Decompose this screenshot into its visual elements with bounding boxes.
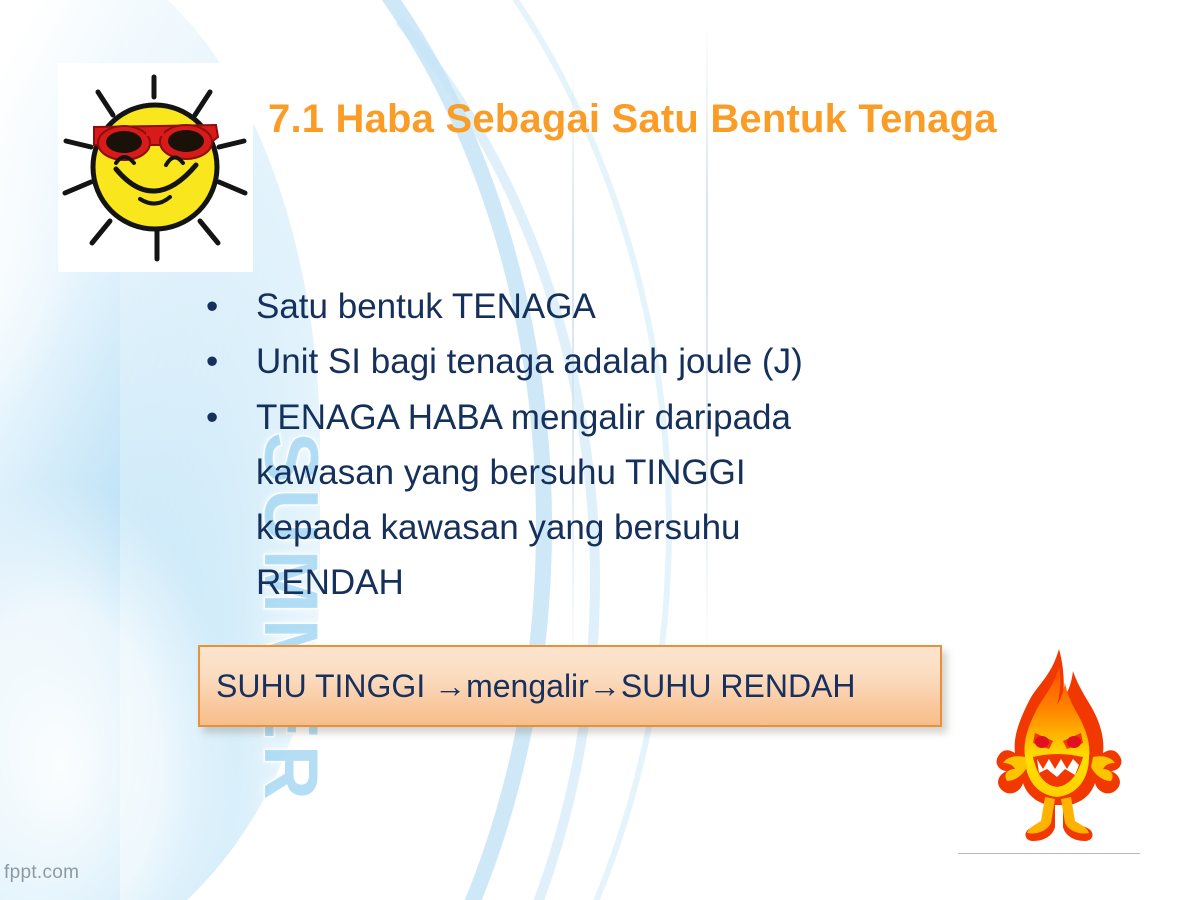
list-item-label: Unit SI bagi tenaga adalah joule (J): [238, 334, 966, 389]
list-item-label: TENAGA HABA mengalir daripada: [238, 390, 966, 445]
angry-flame-character-icon: [985, 645, 1130, 845]
callout-part-low-temp: SUHU RENDAH: [621, 668, 856, 704]
arrow-right-icon: →: [434, 668, 466, 704]
bullet-marker-icon: •: [206, 334, 238, 389]
list-item-continuation: kepada kawasan yang bersuhu: [206, 500, 966, 555]
sun-with-sunglasses-icon: [58, 63, 253, 272]
callout-part-high-temp: SUHU TINGGI: [216, 668, 434, 704]
list-item: • Satu bentuk TENAGA: [206, 279, 966, 334]
arrow-right-icon: →: [589, 668, 621, 704]
heat-flow-callout-box: SUHU TINGGI →mengalir→SUHU RENDAH: [198, 645, 942, 727]
body-content: • Satu bentuk TENAGA • Unit SI bagi tena…: [206, 279, 966, 611]
list-item: • TENAGA HABA mengalir daripada: [206, 390, 966, 445]
bullet-marker-icon: •: [206, 390, 238, 445]
bullet-marker-icon: •: [206, 279, 238, 334]
presentation-slide: SUMMER: [0, 0, 1199, 900]
horizontal-divider-line: [958, 853, 1140, 854]
list-item-continuation: RENDAH: [206, 555, 966, 610]
heat-flow-callout-text: SUHU TINGGI →mengalir→SUHU RENDAH: [200, 668, 856, 705]
list-item-label: Satu bentuk TENAGA: [238, 279, 966, 334]
page-title: 7.1 Haba Sebagai Satu Bentuk Tenaga: [268, 96, 1128, 142]
callout-part-flow: mengalir: [466, 668, 589, 704]
list-item-continuation: kawasan yang bersuhu TINGGI: [206, 445, 966, 500]
fppt-watermark: fppt.com: [4, 862, 79, 884]
list-item: • Unit SI bagi tenaga adalah joule (J): [206, 334, 966, 389]
